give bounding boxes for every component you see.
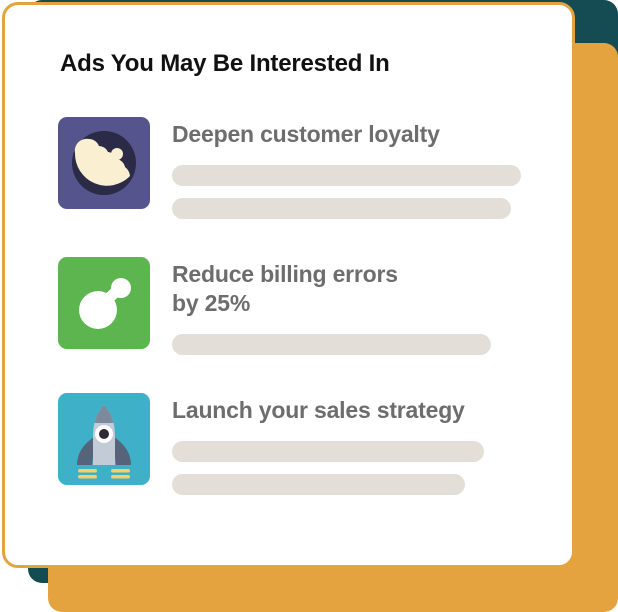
ad-heading-line-2: by 25% <box>172 290 250 316</box>
rocket-icon-art <box>58 393 150 485</box>
placeholder-bar <box>172 441 484 462</box>
placeholder-bar <box>172 474 465 495</box>
placeholder-bar <box>172 165 521 186</box>
molecule-icon <box>58 257 150 349</box>
ad-list: Deepen customer loyalty Reduce billing e… <box>5 117 572 531</box>
list-item[interactable]: Deepen customer loyalty <box>5 117 572 231</box>
list-item[interactable]: Reduce billing errorsby 25% <box>5 257 572 367</box>
placeholder-bar <box>172 198 511 219</box>
ad-body: Reduce billing errorsby 25% <box>172 257 572 367</box>
ad-body: Launch your sales strategy <box>172 393 572 507</box>
ads-card: Ads You May Be Interested In Deepen cust… <box>2 2 575 568</box>
list-item[interactable]: Launch your sales strategy <box>5 393 572 507</box>
ad-heading: Launch your sales strategy <box>172 396 532 425</box>
ad-heading-line-1: Reduce billing errors <box>172 261 398 287</box>
page-title: Ads You May Be Interested In <box>60 50 390 78</box>
moon-icon-art <box>58 117 150 209</box>
ad-heading: Reduce billing errorsby 25% <box>172 260 532 318</box>
rocket-icon <box>58 393 150 485</box>
screenshot-stage: Ads You May Be Interested In Deepen cust… <box>0 0 618 612</box>
moon-icon <box>58 117 150 209</box>
ad-heading: Deepen customer loyalty <box>172 120 532 149</box>
ad-body: Deepen customer loyalty <box>172 117 572 231</box>
placeholder-bar <box>172 334 491 355</box>
molecule-icon-art <box>58 257 150 349</box>
